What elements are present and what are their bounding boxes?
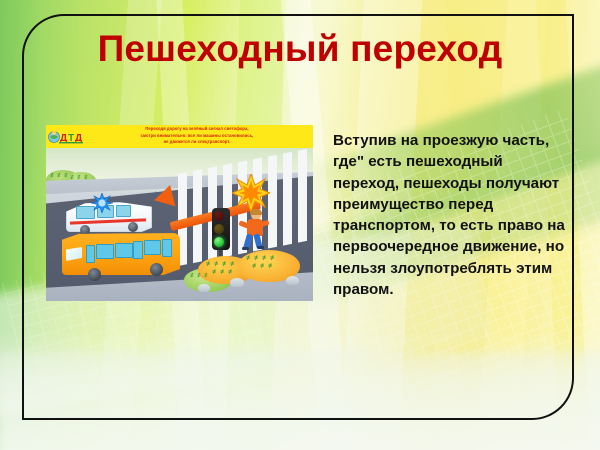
pedestrian-shoe — [242, 247, 249, 250]
pedestrian-hair — [250, 209, 262, 215]
body-paragraph: Вступив на проезжую часть, где" есть пеш… — [333, 130, 567, 300]
scene-impact-burst-icon — [232, 174, 270, 212]
page-title: Пешеходный переход — [0, 28, 600, 70]
bus-wheel — [88, 268, 101, 281]
scene-bush-leaf: ≢≢≢≢ — [246, 256, 278, 261]
pedestrian-shoe — [257, 246, 264, 249]
dtd-logo-icon: Д Т Д — [48, 128, 84, 145]
scene-bush-leaf: ≢≢≢ — [252, 264, 276, 269]
scene-rock — [286, 276, 299, 285]
scene-rock — [230, 278, 244, 287]
traffic-light-green-lamp — [214, 237, 224, 247]
scene-pedestrian — [242, 210, 268, 252]
bus-wheel — [150, 263, 163, 276]
background-bottom-fade — [0, 330, 600, 450]
slide: Пешеходный переход Вступив на проезжую ч… — [0, 0, 600, 450]
traffic-light-red-lamp — [214, 211, 224, 221]
ambulance-window — [116, 205, 131, 217]
scene-bush-leaf: ≢≢≢ — [50, 174, 71, 179]
bus-window — [162, 239, 172, 257]
illustration-scene: ≢≢≢ ≢≢≢ — [46, 148, 313, 301]
scene-bush-leaf: ≢≢≢≢ — [206, 262, 238, 267]
ambulance-siren-icon — [91, 193, 113, 213]
illustration-image: Д Т Д Переходя дорогу на зелёный сигнал … — [46, 125, 313, 301]
caption-line: не движется ли спецтранспорт. — [84, 139, 310, 146]
bus-window — [133, 241, 143, 259]
arrow-head — [152, 185, 176, 211]
bus-window — [96, 244, 114, 259]
bus-window — [86, 245, 95, 263]
illustration-caption-bar: Д Т Д Переходя дорогу на зелёный сигнал … — [46, 125, 313, 148]
scene-rock — [198, 284, 210, 292]
bus-window — [144, 240, 161, 255]
bus-window — [115, 243, 133, 258]
scene-bush-leaf: ≢≢≢ — [212, 270, 236, 275]
illustration-caption-text: Переходя дорогу на зелёный сигнал светоф… — [84, 126, 310, 146]
traffic-light-yellow-lamp — [214, 224, 224, 234]
scene-bus — [62, 225, 180, 283]
scene-bush-leaf: ≢≢≢ — [190, 274, 211, 279]
